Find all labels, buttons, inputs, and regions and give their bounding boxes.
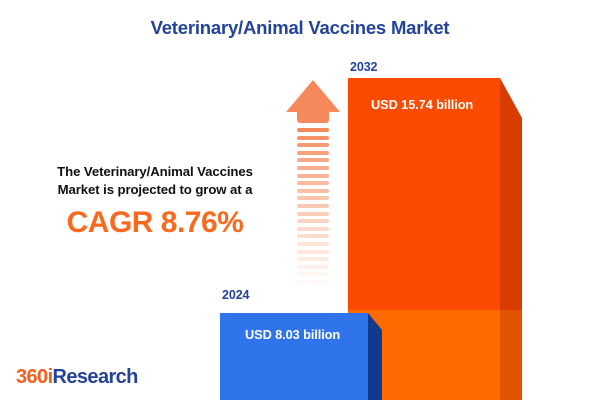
year-label-2032: 2032 (350, 60, 377, 74)
arrow-head-icon (286, 80, 340, 112)
arrow-stripe (297, 234, 329, 238)
bar-2032-lower-side-tint (500, 310, 522, 400)
arrow-stripe (297, 189, 329, 193)
brand-logo: 360iResearch (16, 366, 138, 389)
arrow-stripe (297, 151, 329, 155)
bar-2024-side-face (368, 313, 382, 400)
bar-value-2024: USD 8.03 billion (245, 327, 340, 342)
arrow-stripe (297, 196, 329, 200)
page-title: Veterinary/Animal Vaccines Market (0, 17, 600, 39)
cagr-callout: The Veterinary/Animal Vaccines Market is… (20, 163, 290, 240)
arrow-stripe (297, 143, 329, 147)
infographic-canvas: Veterinary/Animal Vaccines Market The Ve… (0, 0, 600, 400)
arrow-stripe (297, 265, 329, 269)
arrow-stripe (297, 280, 329, 284)
arrow-stripe (297, 272, 329, 276)
year-label-2024: 2024 (222, 288, 249, 302)
arrow-stripes (297, 128, 329, 293)
callout-line-1: The Veterinary/Animal Vaccines (20, 163, 290, 181)
arrow-stripe (297, 128, 329, 132)
logo-research: Research (53, 366, 138, 388)
arrow-stripe (297, 166, 329, 170)
arrow-stripe (297, 257, 329, 261)
up-arrow-icon (286, 80, 340, 295)
arrow-stripe (297, 136, 329, 140)
arrow-stripe (297, 250, 329, 254)
bar-value-2032: USD 15.74 billion (371, 97, 473, 112)
arrow-stripe (297, 212, 329, 216)
arrow-stripe (297, 174, 329, 178)
arrow-stripe (297, 204, 329, 208)
arrow-stripe (297, 219, 329, 223)
arrow-stripe (297, 287, 329, 291)
logo-360i: 360i (16, 366, 53, 388)
arrow-stripe (297, 181, 329, 185)
arrow-stripe (297, 227, 329, 231)
cagr-value: CAGR 8.76% (20, 206, 290, 240)
arrow-stripe (297, 158, 329, 162)
arrow-stripe (297, 242, 329, 246)
arrow-neck (297, 111, 329, 123)
callout-line-2: Market is projected to grow at a (20, 181, 290, 199)
